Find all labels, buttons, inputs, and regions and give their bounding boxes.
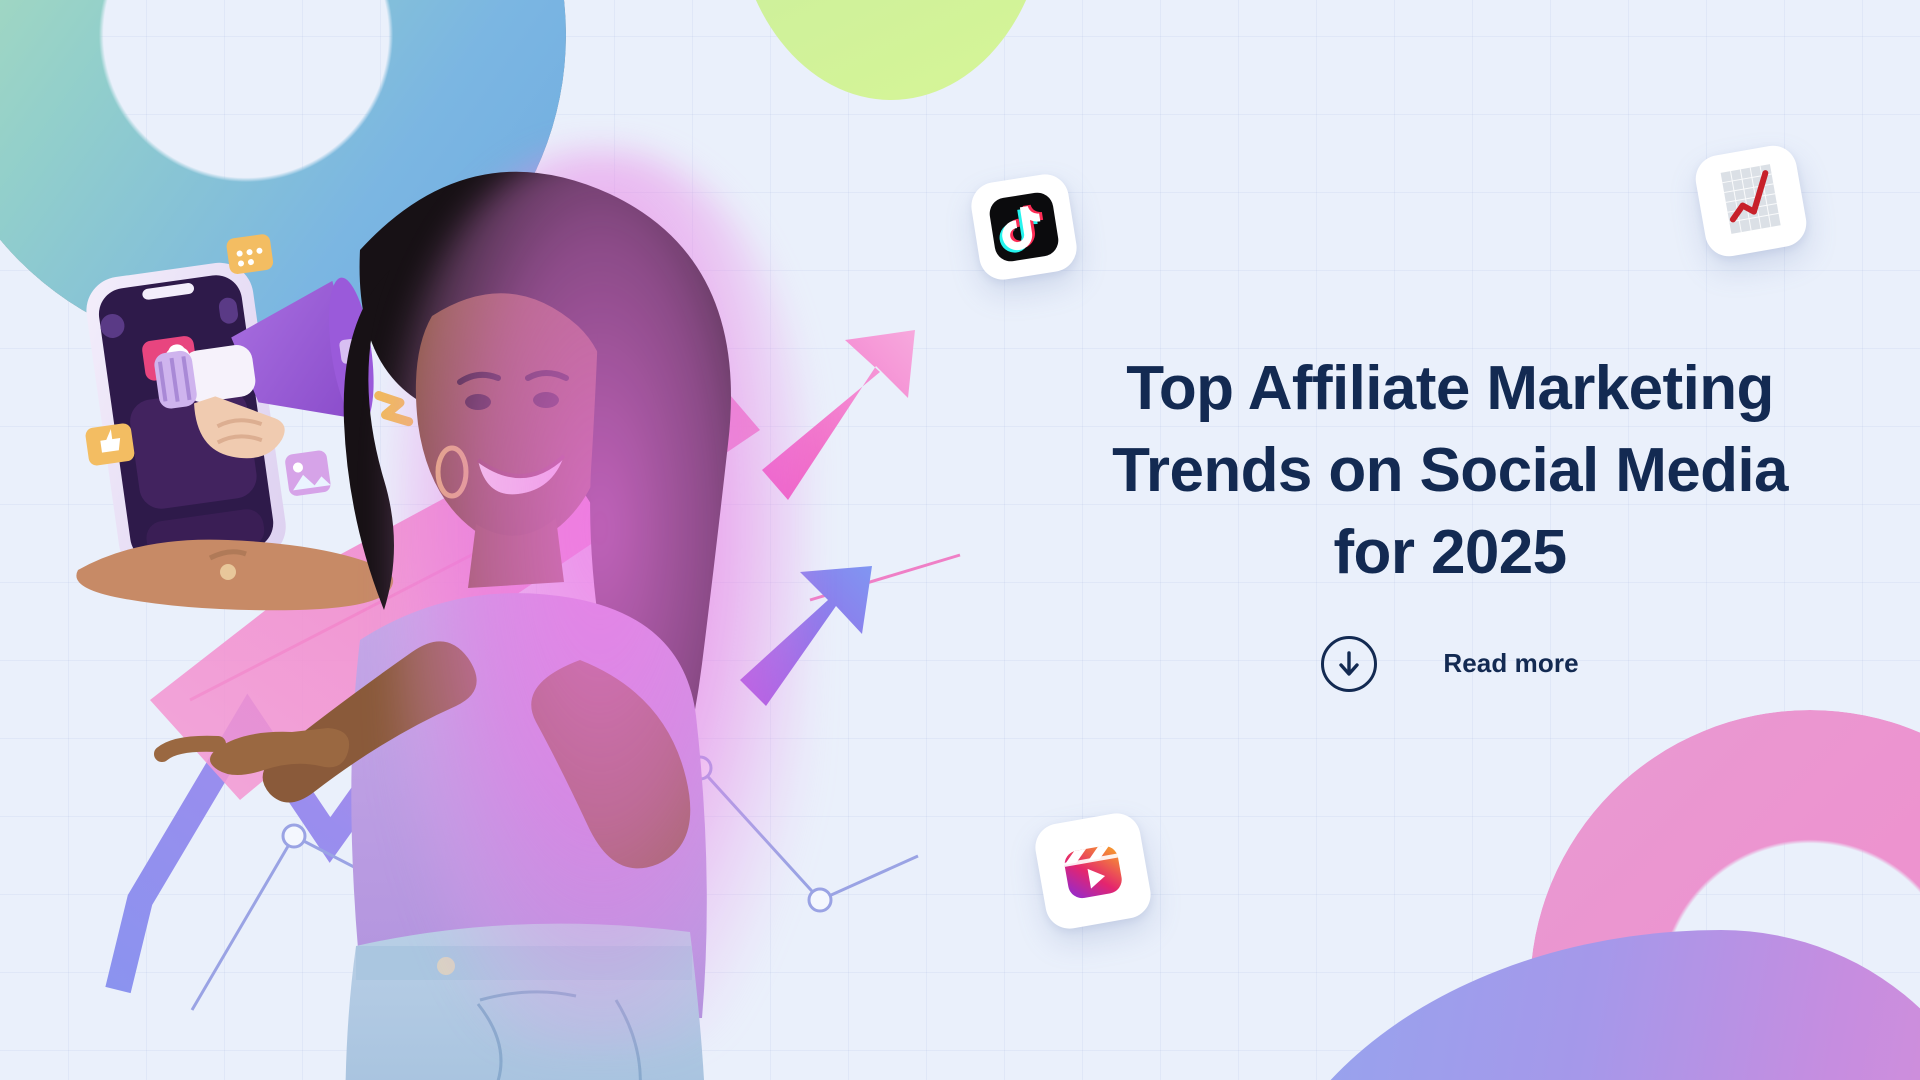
open-palm xyxy=(76,540,393,611)
marketing-banner: Top Affiliate Marketing Trends on Social… xyxy=(0,0,1920,1080)
teal-blue-ring-decoration xyxy=(0,0,566,355)
headline-line-1: Top Affiliate Marketing xyxy=(1010,348,1890,430)
chart-node xyxy=(689,757,711,779)
read-more-cta[interactable]: Read more xyxy=(1321,636,1578,692)
pink-up-arrow xyxy=(762,330,915,500)
chart-node xyxy=(283,825,305,847)
subject-illustration xyxy=(60,120,960,1080)
chart-node xyxy=(809,889,831,911)
headline-line-2: Trends on Social Media xyxy=(1010,430,1890,512)
subject-glow xyxy=(390,150,810,1050)
purple-up-arrow xyxy=(740,566,872,706)
text-column: Top Affiliate Marketing Trends on Social… xyxy=(1000,0,1900,1080)
hero-subject-composition xyxy=(60,120,960,1080)
read-more-label[interactable]: Read more xyxy=(1443,648,1578,679)
headline-line-3: for 2025 xyxy=(1010,512,1890,594)
thin-trend-line xyxy=(192,768,918,1010)
pink-accent-line xyxy=(190,530,520,700)
page-title: Top Affiliate Marketing Trends on Social… xyxy=(1010,348,1890,593)
pink-accent-line xyxy=(810,555,960,600)
phone-megaphone-prop xyxy=(61,216,439,582)
arrow-down-circle-icon[interactable] xyxy=(1321,636,1377,692)
woman-figure xyxy=(162,172,731,1080)
thick-trend-line xyxy=(118,700,520,990)
chart-artwork xyxy=(0,0,1000,1080)
pink-band xyxy=(150,360,760,800)
